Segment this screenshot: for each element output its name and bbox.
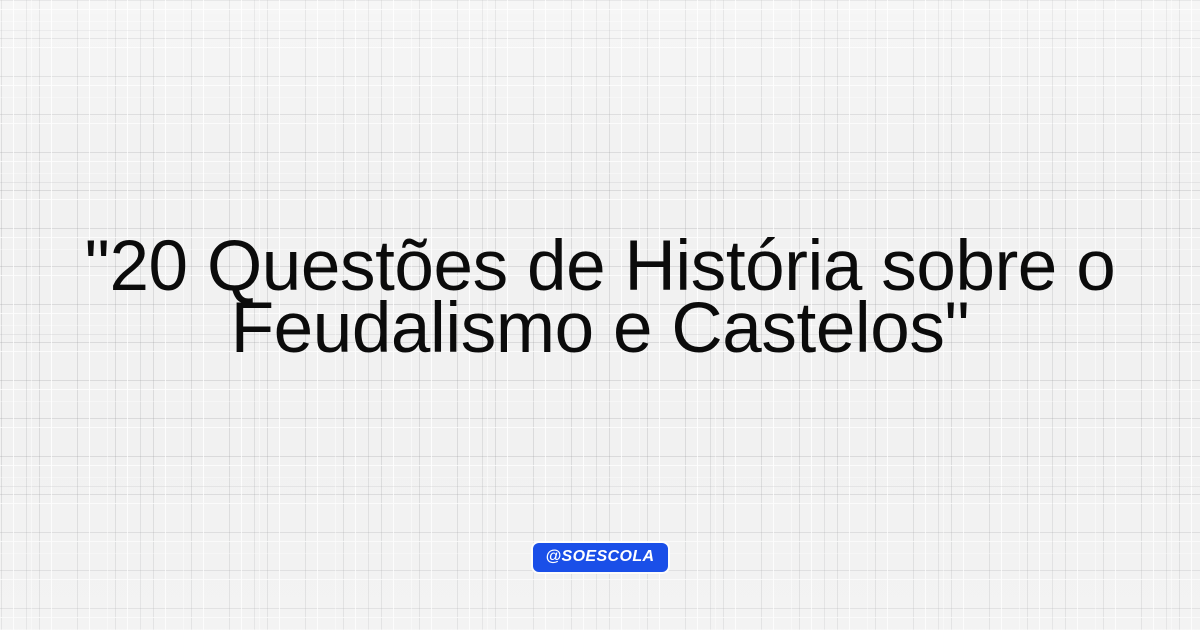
social-share-card: "20 Questões de História sobre o Feudali… xyxy=(0,0,1200,630)
title-block: "20 Questões de História sobre o Feudali… xyxy=(0,236,1200,360)
badge-row: @SOESCOLA xyxy=(0,543,1200,572)
page-title: "20 Questões de História sobre o Feudali… xyxy=(40,236,1160,360)
brand-handle-badge: @SOESCOLA xyxy=(533,543,668,572)
